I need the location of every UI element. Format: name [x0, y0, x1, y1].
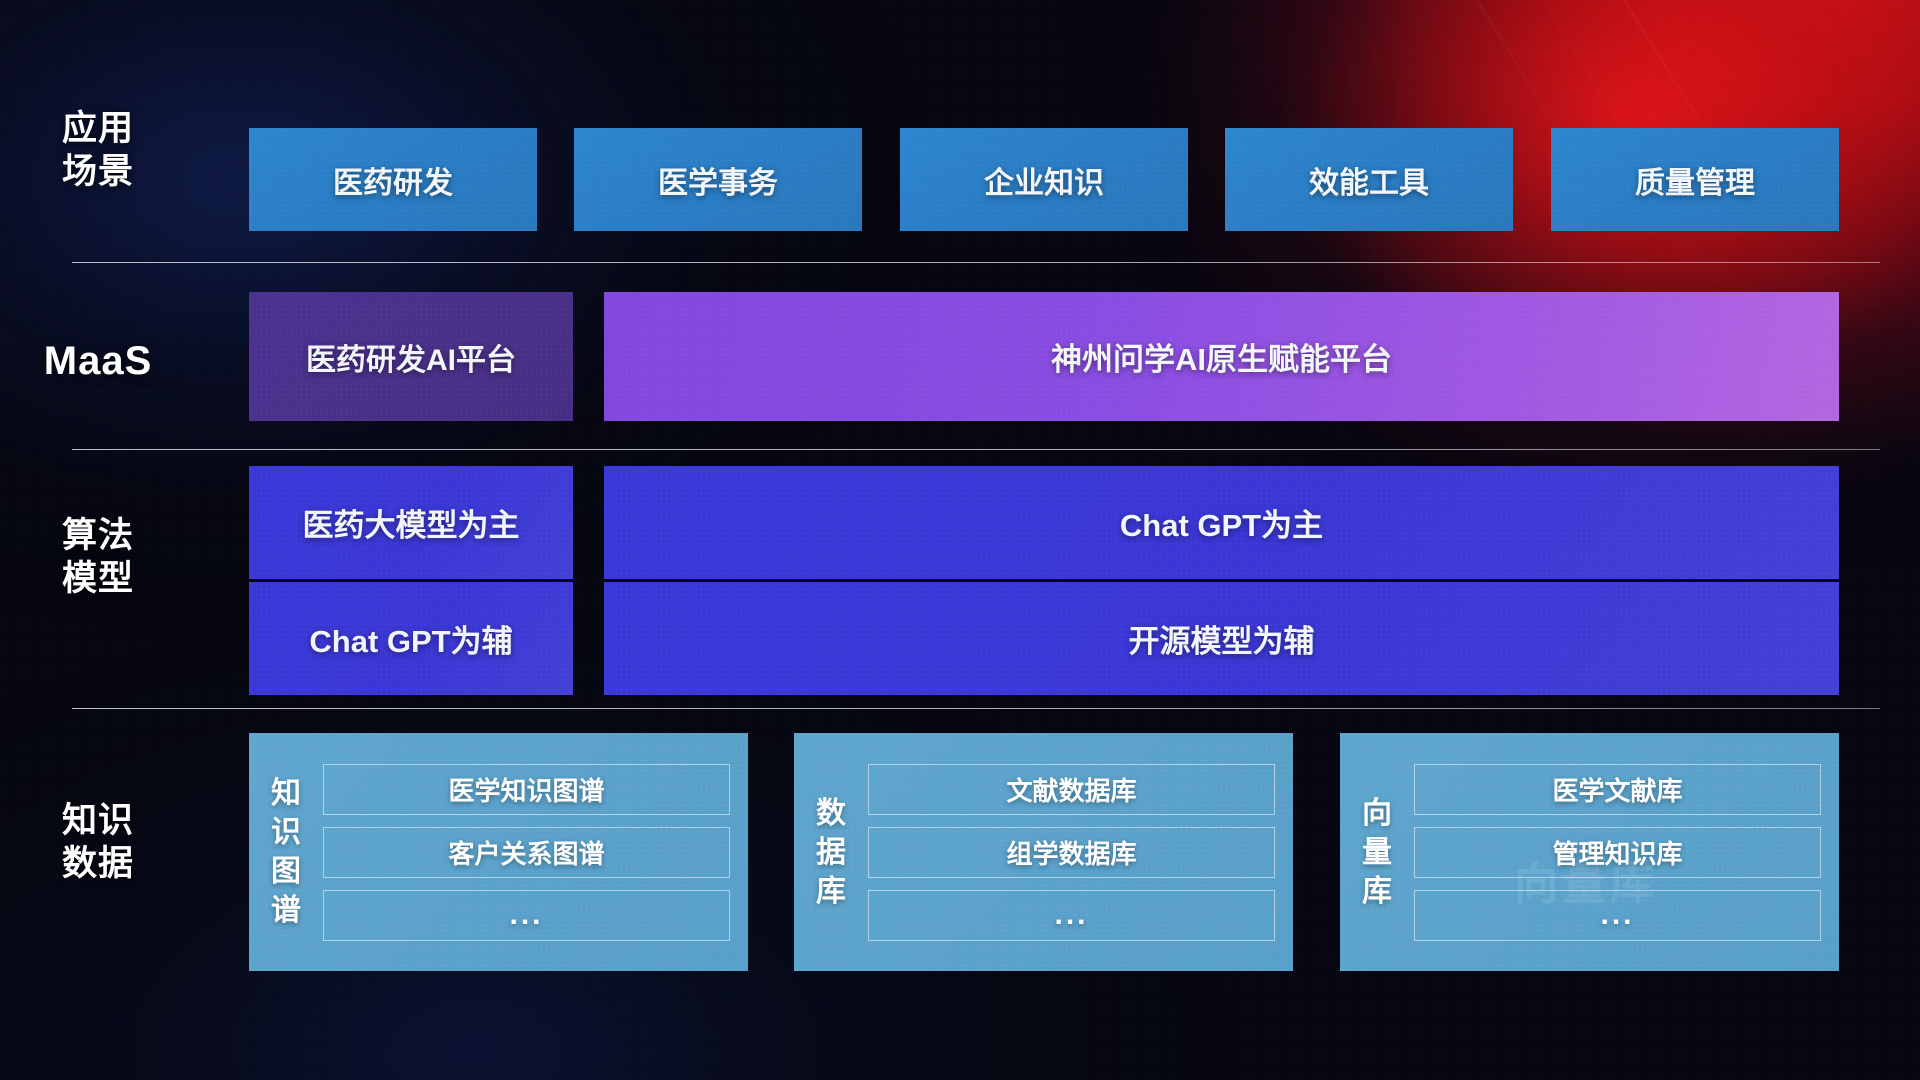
architecture-diagram: 应用 场景 医药研发 医学事务 企业知识 效能工具 质量管理 MaaS 医药研发…: [0, 0, 1920, 1080]
app-box-4[interactable]: 质量管理: [1551, 128, 1839, 231]
app-box-label: 医学事务: [658, 158, 778, 202]
title-char: 量: [1340, 833, 1414, 872]
row-label-maas: MaaS: [0, 337, 196, 386]
row-label-line: 应用: [0, 108, 196, 151]
algo-box-2[interactable]: Chat GPT为辅: [249, 582, 573, 695]
title-char: 图: [249, 852, 323, 891]
app-box-label: 效能工具: [1309, 158, 1429, 202]
algo-box-3[interactable]: 开源模型为辅: [604, 582, 1839, 695]
maas-box-platform[interactable]: 医药研发AI平台: [249, 292, 573, 421]
app-box-label: 企业知识: [984, 158, 1104, 202]
algo-box-1[interactable]: Chat GPT为主: [604, 466, 1839, 579]
knowledge-item-more[interactable]: ...: [323, 890, 730, 941]
title-char: 据: [794, 833, 868, 872]
row-label-line: 知识: [0, 800, 196, 843]
title-char: 数: [794, 794, 868, 833]
title-char: 知: [249, 774, 323, 813]
divider-application: [72, 262, 1880, 263]
app-box-3[interactable]: 效能工具: [1225, 128, 1513, 231]
app-box-label: 医药研发: [333, 158, 453, 202]
knowledge-item[interactable]: 文献数据库: [868, 764, 1275, 815]
title-char: 识: [249, 813, 323, 852]
knowledge-item[interactable]: 客户关系图谱: [323, 827, 730, 878]
algo-box-label: Chat GPT为主: [1120, 500, 1323, 545]
row-label-line: 算法: [0, 515, 196, 558]
knowledge-panel-database[interactable]: 数 据 库 文献数据库 组学数据库 ...: [794, 733, 1293, 971]
knowledge-item[interactable]: 医学文献库: [1414, 764, 1821, 815]
knowledge-panel-title: 数 据 库: [794, 794, 868, 911]
knowledge-panel-items: 医学知识图谱 客户关系图谱 ...: [323, 764, 748, 941]
knowledge-item-more[interactable]: ...: [868, 890, 1275, 941]
algo-box-label: Chat GPT为辅: [309, 616, 512, 661]
title-char: 向: [1340, 794, 1414, 833]
title-char: 库: [794, 872, 868, 911]
knowledge-item[interactable]: 组学数据库: [868, 827, 1275, 878]
knowledge-panel-title: 知 识 图 谱: [249, 774, 323, 930]
knowledge-panel-items: 文献数据库 组学数据库 ...: [868, 764, 1293, 941]
title-char: 谱: [249, 891, 323, 930]
divider-algorithm: [72, 708, 1880, 709]
knowledge-item[interactable]: 管理知识库: [1414, 827, 1821, 878]
app-box-label: 质量管理: [1635, 158, 1755, 202]
row-label-line: 数据: [0, 843, 196, 886]
app-box-1[interactable]: 医学事务: [574, 128, 862, 231]
maas-box-label: 医药研发AI平台: [306, 335, 516, 379]
maas-box-main[interactable]: 神州问学AI原生赋能平台: [604, 292, 1839, 421]
row-label-knowledge: 知识 数据: [0, 800, 196, 885]
knowledge-panel-title: 向 量 库: [1340, 794, 1414, 911]
knowledge-panel-graph[interactable]: 知 识 图 谱 医学知识图谱 客户关系图谱 ...: [249, 733, 748, 971]
algo-box-label: 医药大模型为主: [303, 500, 520, 545]
knowledge-panel-items: 医学文献库 管理知识库 ...: [1414, 764, 1839, 941]
maas-box-label: 神州问学AI原生赋能平台: [1051, 334, 1392, 379]
title-char: 库: [1340, 872, 1414, 911]
row-label-line: 场景: [0, 151, 196, 194]
app-box-2[interactable]: 企业知识: [900, 128, 1188, 231]
algo-box-label: 开源模型为辅: [1129, 616, 1315, 661]
row-label-line: MaaS: [0, 337, 196, 386]
knowledge-panel-vector[interactable]: 向 量 库 医学文献库 管理知识库 ...: [1340, 733, 1839, 971]
algo-box-0[interactable]: 医药大模型为主: [249, 466, 573, 579]
divider-maas: [72, 449, 1880, 450]
row-label-application: 应用 场景: [0, 108, 196, 193]
row-label-line: 模型: [0, 558, 196, 601]
knowledge-item-more[interactable]: ...: [1414, 890, 1821, 941]
app-box-0[interactable]: 医药研发: [249, 128, 537, 231]
knowledge-item[interactable]: 医学知识图谱: [323, 764, 730, 815]
row-label-algorithm: 算法 模型: [0, 515, 196, 600]
